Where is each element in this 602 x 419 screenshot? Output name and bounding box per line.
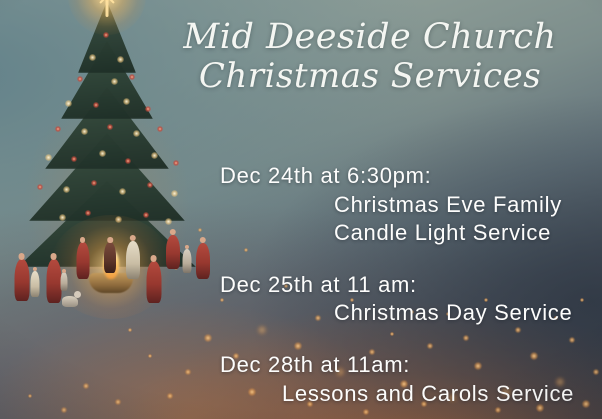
christmas-services-poster: Mid Deeside Church Christmas Services De… xyxy=(0,0,602,419)
vignette-overlay xyxy=(0,0,602,419)
